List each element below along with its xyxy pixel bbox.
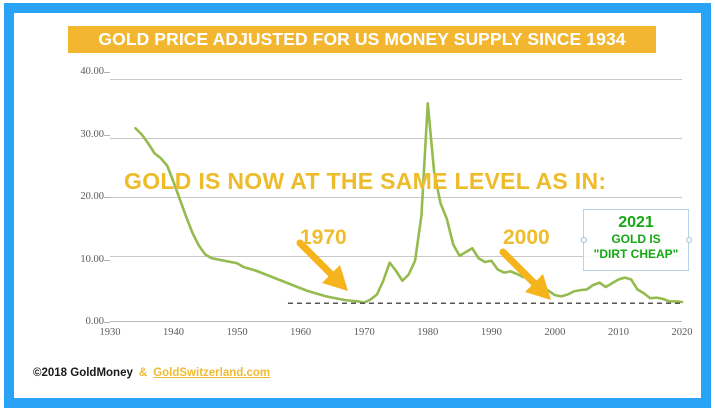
annotation-year-1970: 1970 bbox=[300, 226, 347, 250]
y-tick-label: 20.00 bbox=[56, 191, 104, 202]
ampersand-text: & bbox=[139, 367, 147, 379]
chart-canvas: GOLD PRICE ADJUSTED FOR US MONEY SUPPLY … bbox=[0, 0, 715, 411]
x-tick-label: 1980 bbox=[405, 327, 451, 338]
resize-handle-left[interactable] bbox=[581, 237, 587, 243]
x-tick-label: 2010 bbox=[595, 327, 641, 338]
chart-title-band: GOLD PRICE ADJUSTED FOR US MONEY SUPPLY … bbox=[68, 26, 656, 53]
x-tick-label: 1990 bbox=[468, 327, 514, 338]
y-tick-mark bbox=[104, 322, 110, 323]
y-tick-label: 0.00 bbox=[56, 316, 104, 327]
footer-credits: ©2018 GoldMoney&GoldSwitzerland.com bbox=[33, 367, 270, 379]
price-line-series bbox=[110, 72, 682, 322]
x-tick-label: 2020 bbox=[659, 327, 705, 338]
x-axis-line bbox=[110, 321, 682, 322]
callout-line-3: "DIRT CHEAP" bbox=[584, 247, 688, 262]
page-title: GOLD PRICE ADJUSTED FOR US MONEY SUPPLY … bbox=[98, 29, 625, 50]
x-tick-label: 1940 bbox=[151, 327, 197, 338]
y-tick-label: 10.00 bbox=[56, 254, 104, 265]
copyright-text: ©2018 GoldMoney bbox=[33, 367, 133, 379]
headline-annotation: GOLD IS NOW AT THE SAME LEVEL AS IN: bbox=[124, 168, 606, 195]
goldswitzerland-link[interactable]: GoldSwitzerland.com bbox=[153, 367, 270, 379]
annotation-year-2000: 2000 bbox=[503, 226, 550, 250]
callout-box-2021[interactable]: 2021 GOLD IS "DIRT CHEAP" bbox=[583, 209, 689, 271]
x-tick-label: 1970 bbox=[341, 327, 387, 338]
callout-line-2: GOLD IS bbox=[584, 232, 688, 247]
arrow-2000-icon bbox=[499, 248, 569, 308]
resize-handle-right[interactable] bbox=[686, 237, 692, 243]
x-tick-label: 1930 bbox=[87, 327, 133, 338]
x-tick-label: 2000 bbox=[532, 327, 578, 338]
y-axis-labels: 0.0010.0020.0030.0040.00 bbox=[52, 72, 104, 322]
x-tick-label: 1960 bbox=[278, 327, 324, 338]
y-tick-label: 40.00 bbox=[56, 66, 104, 77]
y-tick-label: 30.00 bbox=[56, 129, 104, 140]
x-tick-label: 1950 bbox=[214, 327, 260, 338]
plot-area bbox=[110, 72, 682, 322]
callout-year: 2021 bbox=[584, 213, 688, 232]
